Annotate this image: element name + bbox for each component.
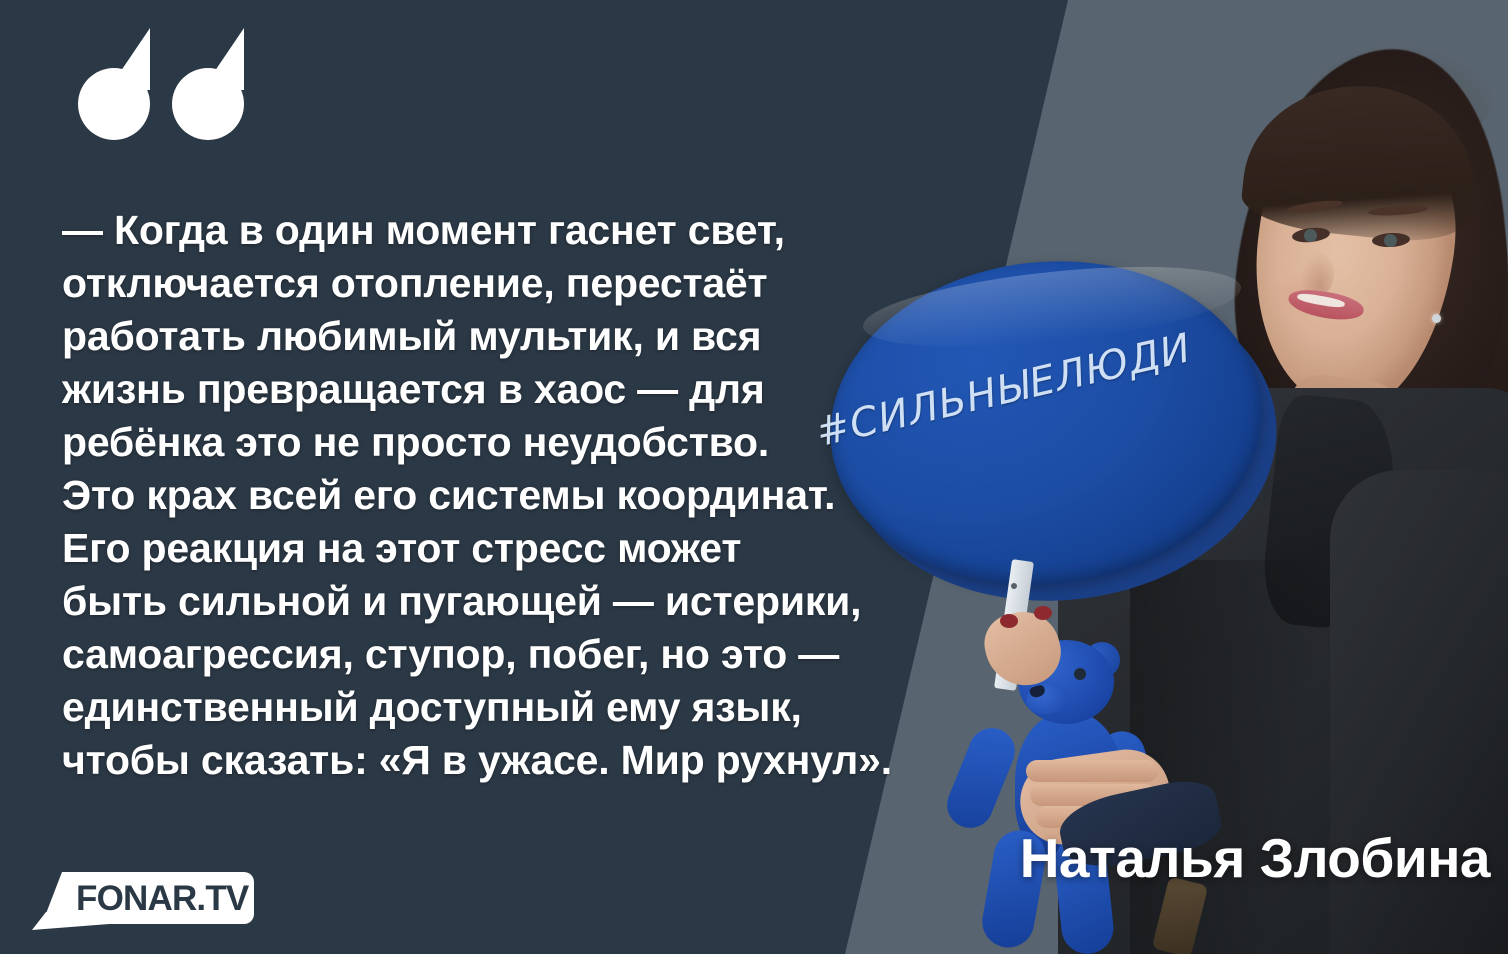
fingernail-b bbox=[1034, 606, 1052, 620]
logo-text: FONAR.TV bbox=[76, 879, 248, 919]
quote-glyph-left-ball bbox=[78, 68, 150, 140]
quote-text: — Когда в один момент гаснет свет, отклю… bbox=[62, 204, 962, 787]
pupil-right bbox=[1384, 234, 1397, 247]
fonar-tv-logo[interactable]: FONAR.TV bbox=[42, 872, 254, 924]
fingernail-a bbox=[1000, 614, 1018, 628]
handle-hole-top bbox=[1011, 583, 1017, 589]
finger-1 bbox=[1026, 760, 1158, 782]
earring bbox=[1432, 314, 1441, 323]
attribution-name: Наталья Злобина bbox=[1020, 826, 1490, 890]
quotation-mark-icon bbox=[78, 28, 248, 140]
quote-glyph-right-ball bbox=[172, 68, 244, 140]
quote-card: #СИЛЬНЫЕЛЮДИ — Когда в один момент гасне… bbox=[0, 0, 1508, 954]
bear-eye-right bbox=[1074, 668, 1086, 680]
pupil-left bbox=[1304, 229, 1317, 242]
jacket-shadow bbox=[1130, 560, 1350, 954]
quote-glyph-left bbox=[78, 28, 150, 140]
quote-glyph-right bbox=[172, 28, 244, 140]
